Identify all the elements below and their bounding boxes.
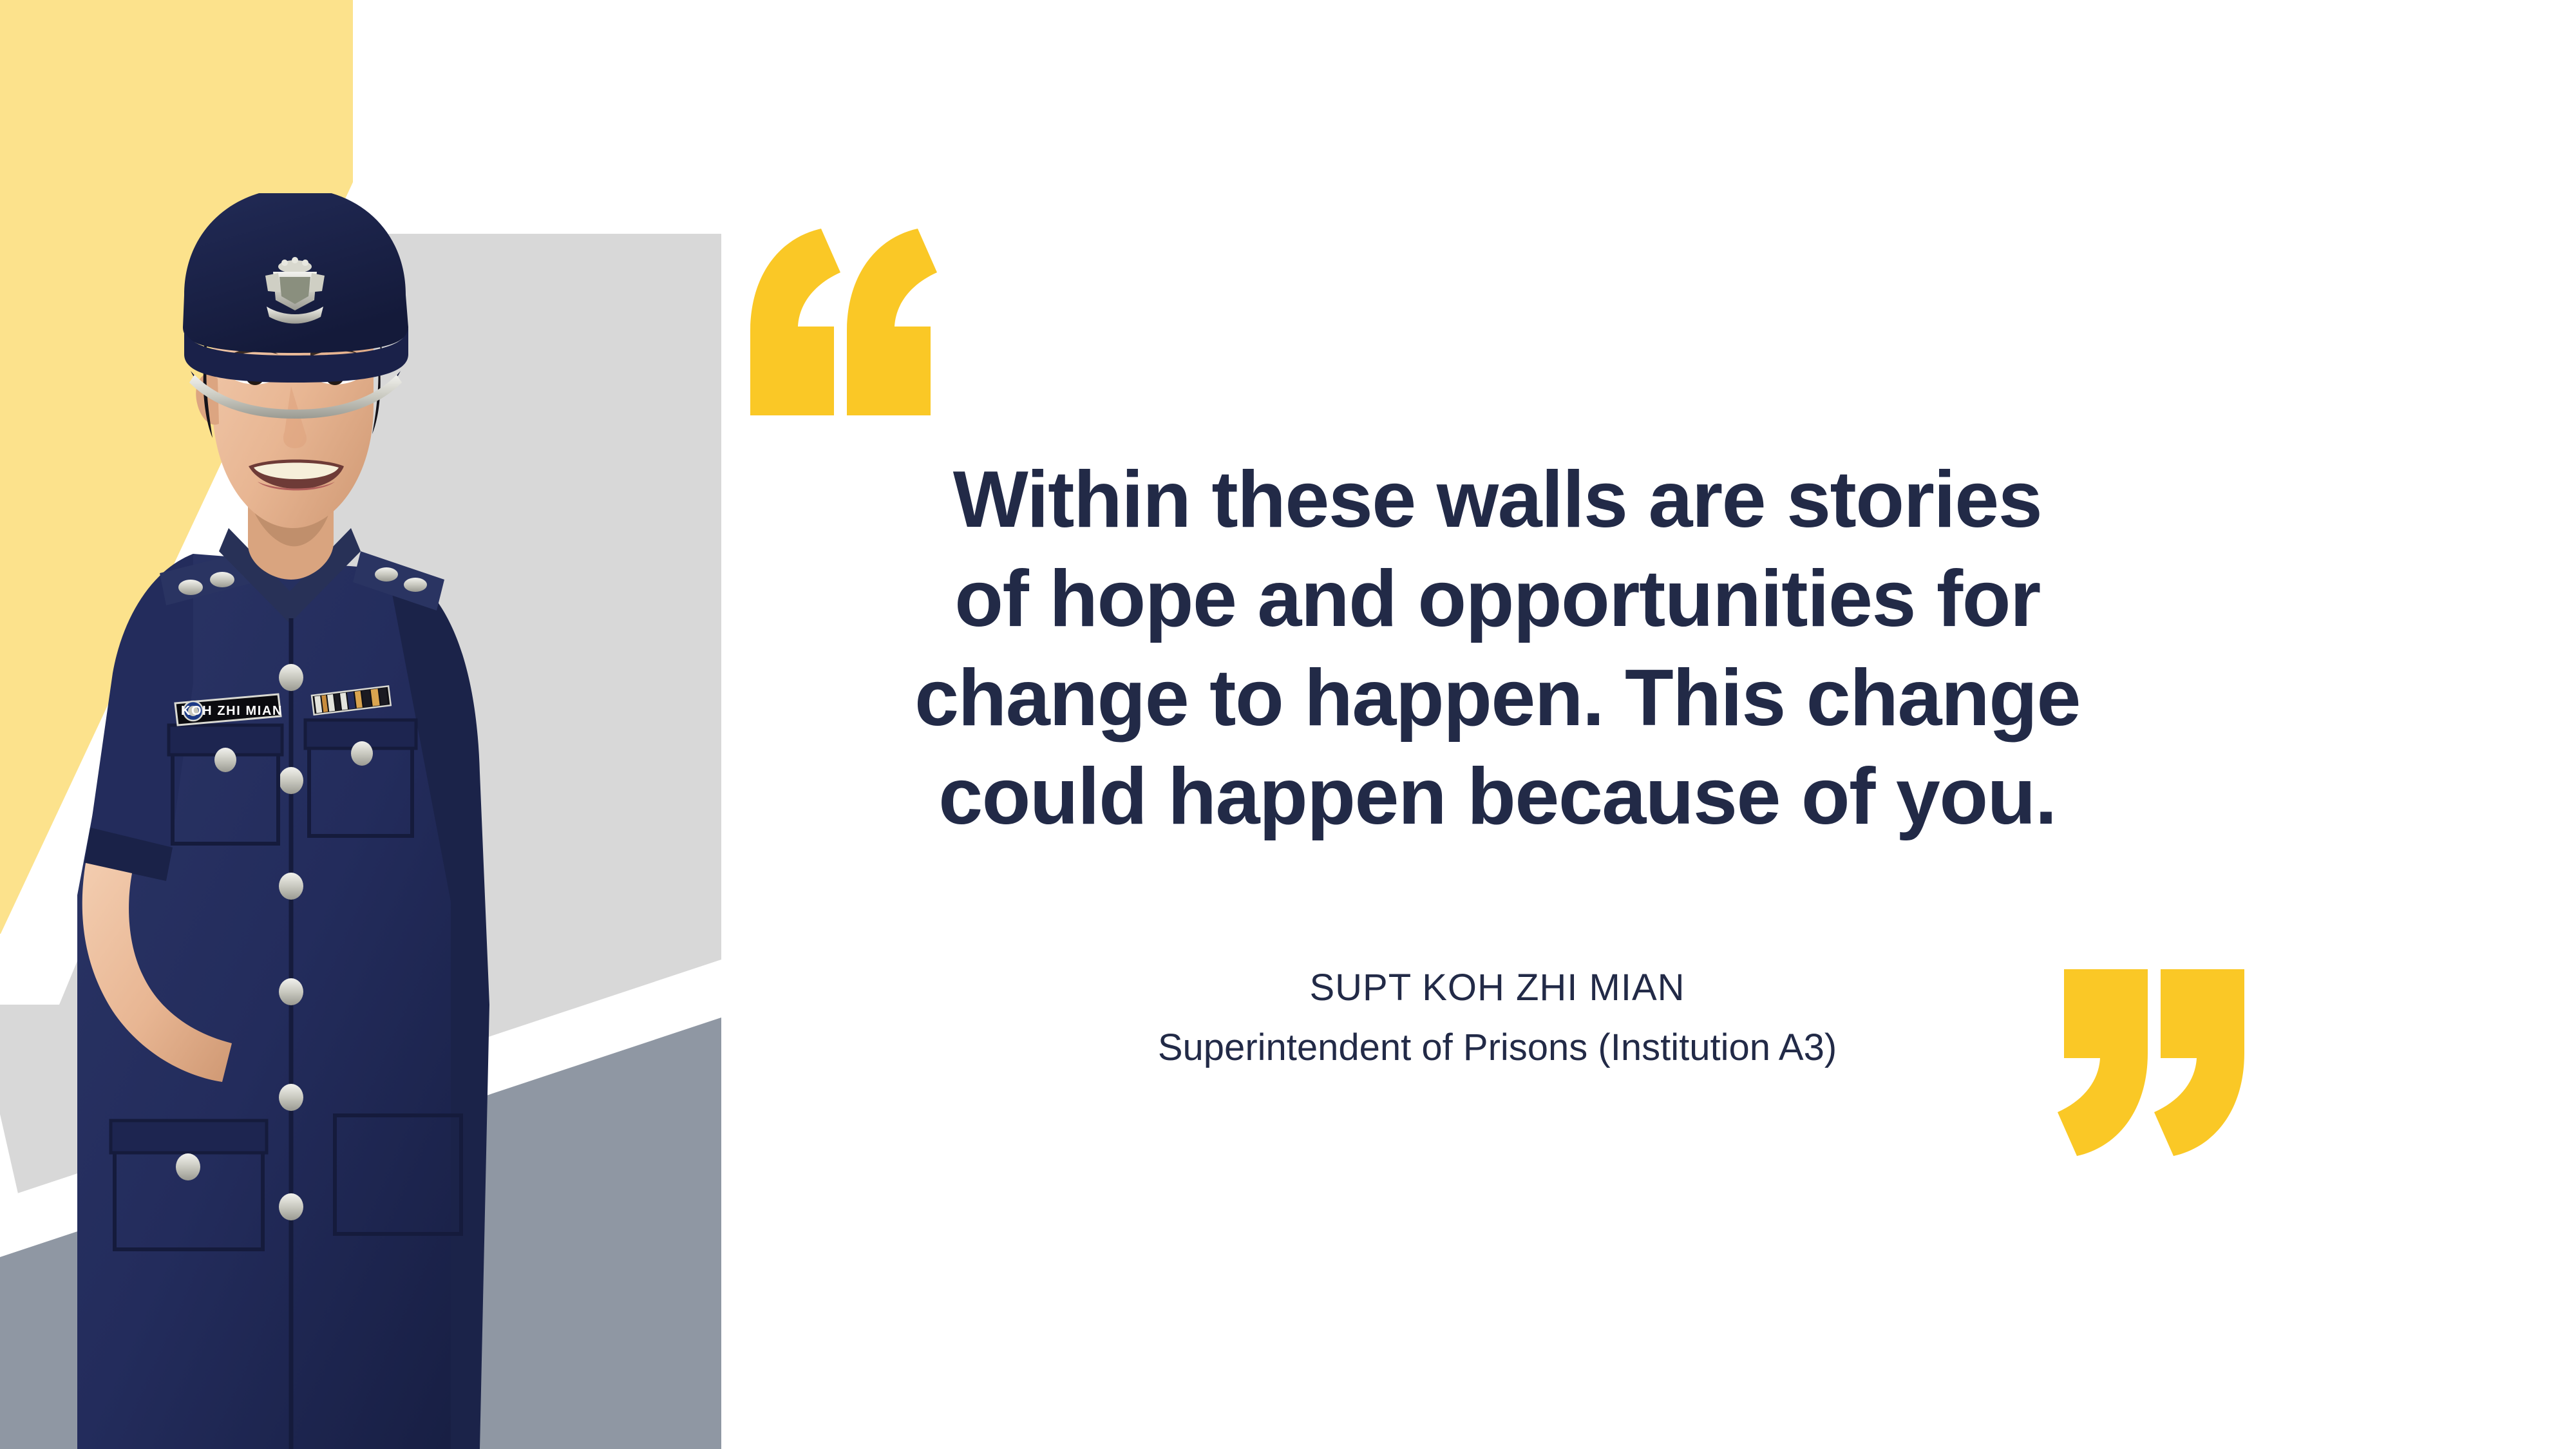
attribution-block: SUPT KOH ZHI MIAN Superintendent of Pris…: [895, 966, 2099, 1069]
quote-text: Within these walls are stories of hope a…: [895, 451, 2099, 847]
quote-open-icon: [744, 229, 937, 415]
quote-slide: KOH ZHI MIAN: [0, 0, 2576, 1449]
portrait-photo: KOH ZHI MIAN: [0, 193, 721, 1449]
opening-quote-mark: [744, 229, 937, 415]
quote-text-block: Within these walls are stories of hope a…: [895, 451, 2099, 847]
attribution-role: Superintendent of Prisons (Institution A…: [895, 1026, 2099, 1069]
portrait-illustration: KOH ZHI MIAN: [0, 193, 721, 1449]
closing-quote-mark: [2058, 969, 2251, 1156]
attribution-name: SUPT KOH ZHI MIAN: [895, 966, 2099, 1009]
name-badge-text: KOH ZHI MIAN: [181, 704, 283, 718]
quote-close-icon: [2058, 969, 2251, 1156]
